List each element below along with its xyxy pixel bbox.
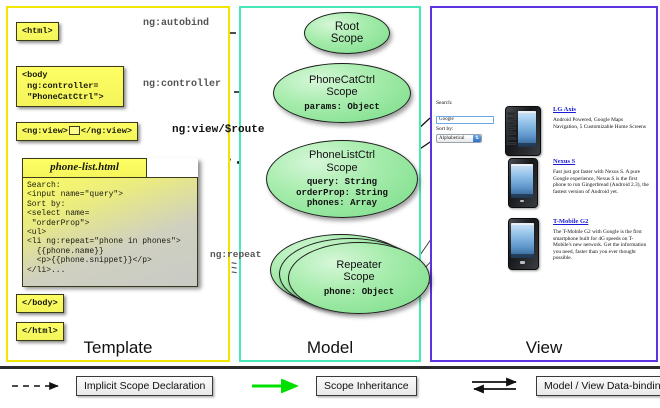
callout-code: Search: <input name="query"> Sort by: <s…: [22, 177, 198, 287]
search-input[interactable]: [436, 116, 494, 124]
callout-title: phone-list.html: [22, 158, 147, 177]
edge-label-ngrepeat: ng:repeat: [210, 249, 261, 260]
code-tag-html-close: </html>: [16, 322, 64, 341]
edge-label-ngview-route: ng:view/$route: [172, 124, 264, 136]
legend-item-implicit: Implicit Scope Declaration: [10, 376, 213, 396]
search-label: Search:: [436, 100, 498, 107]
template-callout-phone-list: phone-list.html Search: <input name="que…: [22, 158, 198, 286]
phone-name-link[interactable]: T-Mobile G2: [553, 218, 649, 226]
scope-phonelistctrl-props: query: String orderProp: String phones: …: [296, 177, 388, 209]
ngview-placeholder-icon: [69, 126, 80, 135]
double-arrow-icon: [470, 377, 528, 395]
scope-repeater-props: phone: Object: [324, 287, 394, 298]
phone-image-lg-axis: [505, 106, 539, 154]
sort-select-value: Alphabetical: [439, 136, 465, 141]
section-model-label: Model: [241, 338, 419, 358]
legend-label-inheritance: Scope Inheritance: [316, 376, 417, 396]
scope-phonecatctrl: PhoneCatCtrl Scope params: Object: [273, 63, 411, 123]
scope-phonecatctrl-props: params: Object: [304, 102, 380, 113]
sort-label: Sort by:: [436, 126, 498, 133]
section-template-label: Template: [8, 338, 228, 358]
scope-root: Root Scope: [304, 12, 390, 54]
scope-phonecatctrl-name: PhoneCatCtrl Scope: [309, 74, 375, 99]
legend-label-implicit: Implicit Scope Declaration: [76, 376, 213, 396]
legend-item-databinding: Model / View Data-binding: [470, 376, 660, 396]
diagram-canvas: Template <html> <body ng:controller= "Ph…: [0, 0, 660, 405]
view-search-form: Search: Sort by: Alphabetical ⇅: [436, 100, 498, 143]
phone-snippet: The T-Mobile G2 with Google is the first…: [553, 229, 649, 262]
edge-label-controller: ng:controller: [143, 79, 221, 90]
scope-repeater-name: Repeater Scope: [336, 259, 381, 284]
phone-snippet: Android Powered, Google Maps Navigation,…: [553, 117, 649, 130]
phone-snippet: Fast just got faster with Nexus S. A pur…: [553, 169, 649, 195]
legend-label-databinding: Model / View Data-binding: [536, 376, 660, 396]
scope-phonelistctrl: PhoneListCtrl Scope query: String orderP…: [266, 140, 418, 218]
legend-item-inheritance: Scope Inheritance: [250, 376, 417, 396]
legend: Implicit Scope Declaration Scope Inherit…: [0, 366, 660, 408]
code-tag-body-close: </body>: [16, 294, 64, 313]
code-tag-ngview: <ng:view></ng:view>: [16, 122, 138, 141]
phone-name-link[interactable]: Nexus S: [553, 158, 649, 166]
dashed-arrow-icon: [10, 379, 68, 393]
section-view-label: View: [432, 338, 656, 358]
edge-label-autobind: ng:autobind: [143, 18, 209, 29]
green-arrow-icon: [250, 379, 308, 393]
code-tag-body-open: <body ng:controller= "PhoneCatCtrl">: [16, 66, 124, 107]
scope-repeater: Repeater Scope phone: Object: [288, 242, 430, 314]
ngview-close-text: </ng:view>: [81, 126, 132, 136]
code-tag-html-open: <html>: [16, 22, 59, 41]
scope-root-name: Root Scope: [331, 21, 364, 46]
phone-name-link[interactable]: LG Axis: [553, 106, 649, 114]
phone-image-nexus-s: [508, 158, 536, 206]
sort-select[interactable]: Alphabetical ⇅: [436, 134, 482, 143]
ngview-open-text: <ng:view>: [22, 126, 68, 136]
chevron-updown-icon: ⇅: [473, 135, 481, 142]
scope-phonelistctrl-name: PhoneListCtrl Scope: [309, 149, 375, 174]
phone-image-t-mobile-g2: [508, 218, 537, 268]
